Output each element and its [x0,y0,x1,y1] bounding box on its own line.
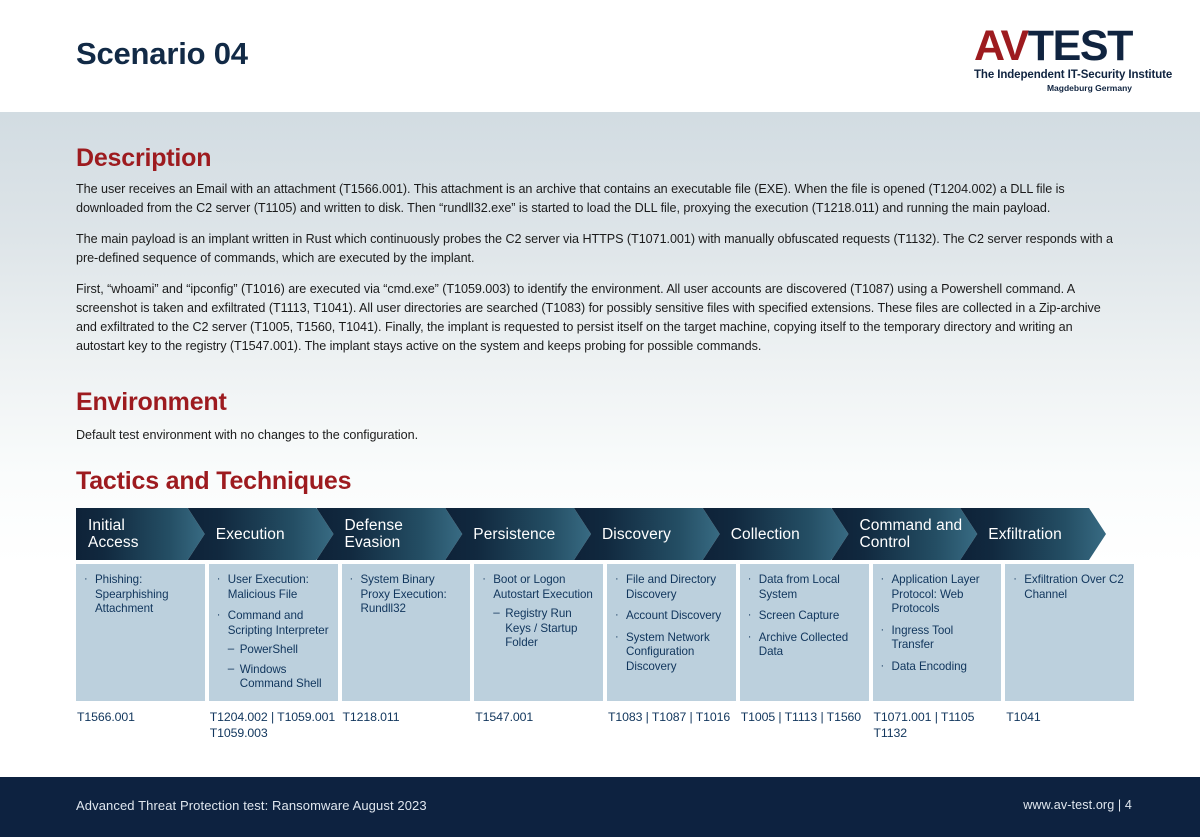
technique-label: File and Directory Discovery [626,573,716,601]
bullet-icon: · [1013,572,1017,587]
technique-item: ·Archive Collected Data [748,631,861,660]
tactic-cell: ·Application Layer Protocol: Web Protoco… [873,564,1002,701]
environment-body: Default test environment with no changes… [76,426,876,445]
technique-ids: T1071.001 | T1105 T1132 [873,710,1002,741]
footer-test-name: Advanced Threat Protection test: Ransomw… [76,798,427,813]
environment-text: Default test environment with no changes… [76,426,876,445]
bullet-icon: · [881,659,885,674]
sub-technique-label: Registry Run Keys / Startup Folder [505,607,577,649]
technique-item: ·Data Encoding [881,660,994,675]
tactic-header-label: InitialAccess [76,517,145,551]
bullet-icon: · [748,608,752,623]
technique-item: ·Ingress Tool Transfer [881,624,994,653]
technique-list: ·Boot or Logon Autostart Execution–Regis… [482,573,595,651]
tactic-header-defense[interactable]: DefenseEvasion [317,508,463,560]
technique-ids: T1083 | T1087 | T1016 [607,710,736,741]
bullet-icon: · [748,630,752,645]
bullet-icon: · [615,608,619,623]
tactic-header-execution[interactable]: Execution [188,508,334,560]
technique-item: ·Phishing: Spearphishing Attachment [84,573,197,617]
logo-av-text: AV [974,22,1028,70]
tactic-cell: ·Exfiltration Over C2 Channel [1005,564,1134,701]
technique-item: ·Account Discovery [615,609,728,624]
logo-subtitle: The Independent IT-Security Institute [974,69,1132,81]
technique-label: Archive Collected Data [759,631,848,659]
bullet-icon: · [748,572,752,587]
logo-test-text: TEST [1028,22,1132,70]
bullet-icon: · [217,608,221,623]
technique-ids: T1547.001 [474,710,603,741]
tactic-header-label: Command andControl [832,517,969,551]
slide-page: Scenario 04 AVTEST The Independent IT-Se… [0,0,1200,837]
logo-location: Magdeburg Germany [974,83,1132,93]
technique-list: ·User Execution: Malicious File·Command … [217,573,330,692]
tactic-cell: ·Phishing: Spearphishing Attachment [76,564,205,701]
description-paragraph-2: The main payload is an implant written i… [76,230,1122,268]
dash-icon: – [493,606,499,621]
bullet-icon: · [350,572,354,587]
technique-item: ·Boot or Logon Autostart Execution–Regis… [482,573,595,651]
tactics-cell-row: ·Phishing: Spearphishing Attachment·User… [76,564,1134,701]
tactic-cell: ·Data from Local System·Screen Capture·A… [740,564,869,701]
technique-item: ·Screen Capture [748,609,861,624]
technique-list: ·Data from Local System·Screen Capture·A… [748,573,861,660]
bullet-icon: · [482,572,486,587]
top-header-band: Scenario 04 AVTEST The Independent IT-Se… [0,0,1200,112]
description-paragraph-1: The user receives an Email with an attac… [76,180,1122,218]
tactic-header-exfiltration[interactable]: Exfiltration [960,508,1106,560]
tactic-header-persistence[interactable]: Persistence [445,508,591,560]
tactic-header-initial[interactable]: InitialAccess [76,508,205,560]
tactic-cell: ·User Execution: Malicious File·Command … [209,564,338,701]
tactic-header-discovery[interactable]: Discovery [574,508,720,560]
tactic-cell: ·File and Directory Discovery·Account Di… [607,564,736,701]
technique-list: ·Application Layer Protocol: Web Protoco… [881,573,994,674]
technique-item: ·Command and Scripting Interpreter–Power… [217,609,330,692]
technique-item: ·Exfiltration Over C2 Channel [1013,573,1126,602]
sub-technique-label: Windows Command Shell [240,663,322,691]
technique-label: User Execution: Malicious File [228,573,309,601]
description-heading: Description [76,144,211,173]
technique-label: System Network Configuration Discovery [626,631,710,673]
technique-label: Command and Scripting Interpreter [228,609,329,637]
sub-technique-label: PowerShell [240,643,298,656]
technique-label: Data from Local System [759,573,840,601]
sub-technique-list: –PowerShell–Windows Command Shell [228,643,330,692]
technique-label: Application Layer Protocol: Web Protocol… [892,573,980,615]
technique-list: ·System Binary Proxy Execution: Rundll32 [350,573,463,617]
technique-item: ·System Binary Proxy Execution: Rundll32 [350,573,463,617]
tactics-header-row: InitialAccessExecutionDefenseEvasionPers… [76,508,1134,560]
technique-item: ·File and Directory Discovery [615,573,728,602]
technique-ids: T1041 [1005,710,1134,741]
tactics-matrix: InitialAccessExecutionDefenseEvasionPers… [76,508,1134,741]
dash-icon: – [228,642,234,657]
sub-technique-item: –PowerShell [228,643,330,658]
technique-item: ·System Network Configuration Discovery [615,631,728,675]
page-footer: Advanced Threat Protection test: Ransomw… [0,777,1200,837]
technique-ids: T1204.002 | T1059.001 T1059.003 [209,710,338,741]
technique-label: Exfiltration Over C2 Channel [1024,573,1124,601]
environment-heading: Environment [76,388,227,417]
bullet-icon: · [217,572,221,587]
sub-technique-item: –Windows Command Shell [228,663,330,692]
technique-label: Data Encoding [892,660,967,673]
bullet-icon: · [881,572,885,587]
technique-ids: T1218.011 [342,710,471,741]
technique-label: Account Discovery [626,609,721,622]
tactic-header-command-and[interactable]: Command andControl [832,508,978,560]
technique-list: ·File and Directory Discovery·Account Di… [615,573,728,674]
page-title: Scenario 04 [76,36,248,72]
technique-label: Screen Capture [759,609,840,622]
bullet-icon: · [615,630,619,645]
logo-wordmark: AVTEST [974,24,1132,68]
bullet-icon: · [615,572,619,587]
technique-label: System Binary Proxy Execution: Rundll32 [361,573,447,615]
technique-ids: T1566.001 [76,710,205,741]
technique-ids: T1005 | T1113 | T1560 [740,710,869,741]
technique-item: ·User Execution: Malicious File [217,573,330,602]
technique-item: ·Data from Local System [748,573,861,602]
tactic-cell: ·System Binary Proxy Execution: Rundll32 [342,564,471,701]
technique-label: Phishing: Spearphishing Attachment [95,573,168,615]
dash-icon: – [228,662,234,677]
footer-url-page: www.av-test.org | 4 [1023,798,1132,812]
tactic-header-label: Persistence [445,526,561,543]
description-body: The user receives an Email with an attac… [76,180,1126,356]
sub-technique-list: –Registry Run Keys / Startup Folder [493,607,595,651]
technique-item: ·Application Layer Protocol: Web Protoco… [881,573,994,617]
bullet-icon: · [84,572,88,587]
tactic-cell: ·Boot or Logon Autostart Execution–Regis… [474,564,603,701]
tactics-id-row: T1566.001T1204.002 | T1059.001 T1059.003… [76,710,1134,741]
technique-label: Boot or Logon Autostart Execution [493,573,593,601]
technique-label: Ingress Tool Transfer [892,624,954,652]
description-paragraph-3: First, “whoami” and “ipconfig” (T1016) a… [76,280,1122,356]
bullet-icon: · [881,623,885,638]
technique-list: ·Phishing: Spearphishing Attachment [84,573,197,617]
av-test-logo: AVTEST The Independent IT-Security Insti… [974,24,1132,93]
technique-list: ·Exfiltration Over C2 Channel [1013,573,1126,602]
tactics-heading: Tactics and Techniques [76,467,351,496]
tactic-header-collection[interactable]: Collection [703,508,849,560]
sub-technique-item: –Registry Run Keys / Startup Folder [493,607,595,651]
